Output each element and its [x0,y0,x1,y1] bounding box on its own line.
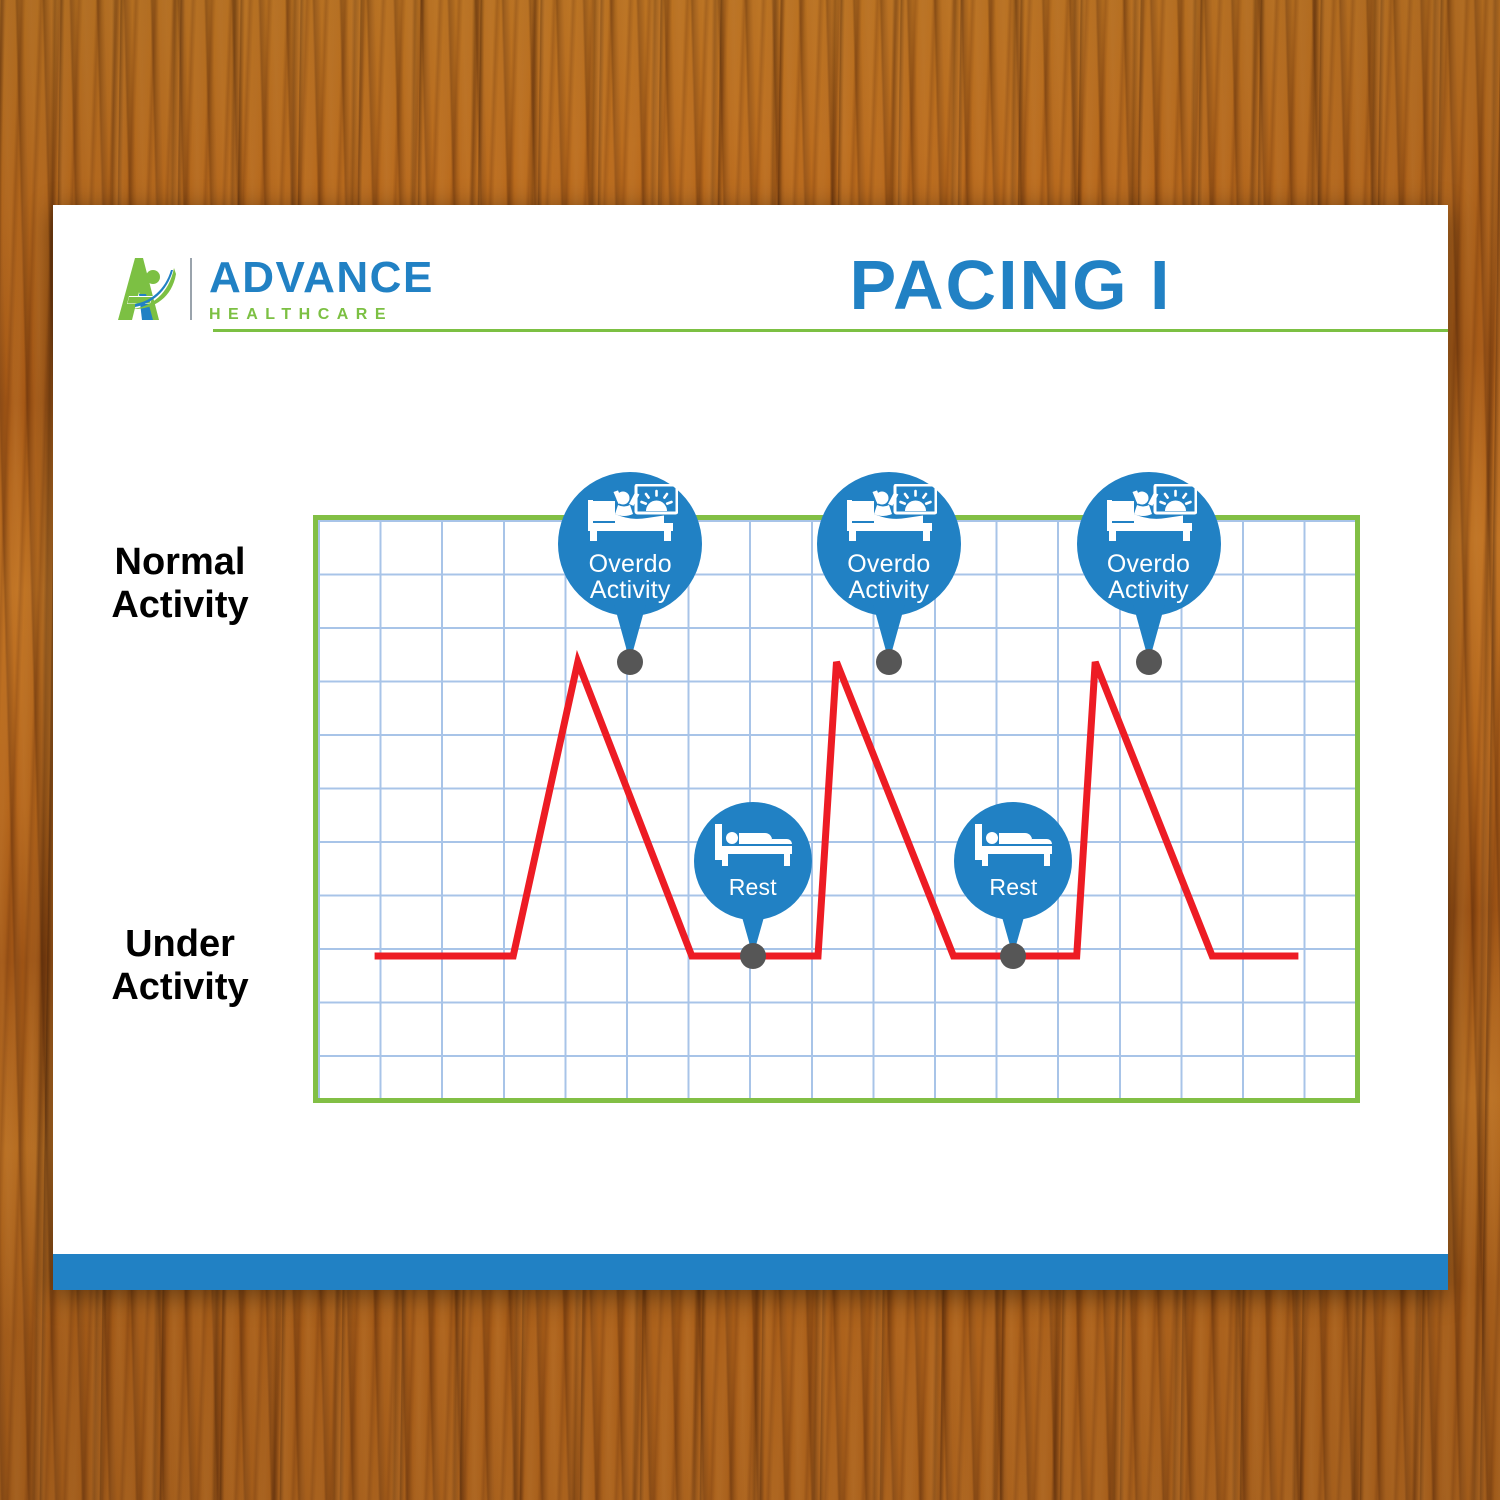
y-axis-label-under-activity: Under Activity [65,923,295,1008]
chart-marker-overdo-1[interactable]: Overdo Activity [558,472,702,616]
overdo-3-bubble[interactable]: Overdo Activity [1077,472,1221,616]
person-sleeping-in-bed-icon [713,822,793,876]
chart-marker-overdo-2[interactable]: Overdo Activity [817,472,961,616]
marker-layer: Overdo ActivityRestOverdo ActivityRestOv… [313,515,1360,1103]
rest-1-point-dot [740,943,766,969]
chart-marker-rest-1[interactable]: Rest [694,802,812,920]
person-sleeping-in-bed-icon [973,822,1053,876]
overdo-1-point-dot [617,649,643,675]
y-axis-label-normal-activity: Normal Activity [65,541,295,626]
overdo-3-label: Overdo Activity [1107,551,1190,603]
rest-2-label: Rest [989,876,1037,900]
overdo-1-bubble[interactable]: Overdo Activity [558,472,702,616]
person-waking-in-bed-sunrise-icon [1101,484,1197,551]
chart-marker-rest-2[interactable]: Rest [954,802,1072,920]
poster-card: ADVANCE HEALTHCARE PACING I Normal Activ… [53,205,1448,1290]
person-waking-in-bed-sunrise-icon [582,484,678,551]
rest-2-point-dot [1000,943,1026,969]
rest-1-bubble[interactable]: Rest [694,802,812,920]
overdo-2-point-dot [876,649,902,675]
footer-accent-bar [53,1254,1448,1290]
chart-marker-overdo-3[interactable]: Overdo Activity [1077,472,1221,616]
rest-1-label: Rest [729,876,777,900]
overdo-3-point-dot [1136,649,1162,675]
overdo-1-label: Overdo Activity [589,551,672,603]
overdo-2-bubble[interactable]: Overdo Activity [817,472,961,616]
pacing-chart: Normal Activity Under Activity Overdo Ac… [53,205,1448,1290]
rest-2-bubble[interactable]: Rest [954,802,1072,920]
overdo-2-label: Overdo Activity [847,551,930,603]
person-waking-in-bed-sunrise-icon [841,484,937,551]
